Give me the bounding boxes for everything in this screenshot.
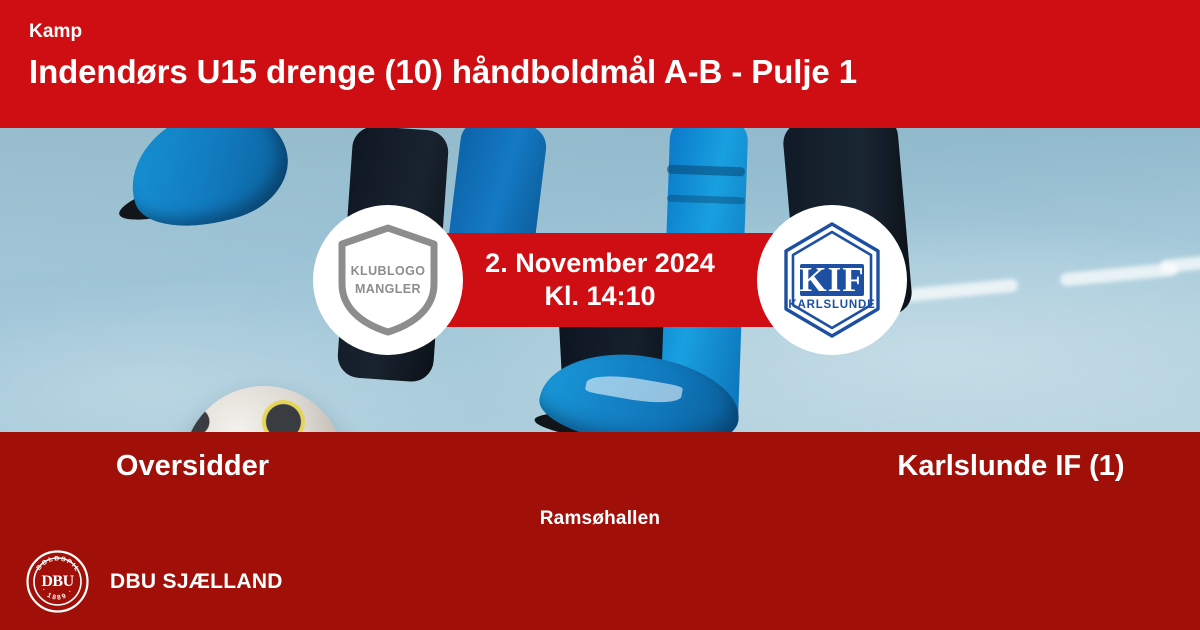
- svg-text:KIF: KIF: [799, 260, 864, 299]
- away-club-logo[interactable]: KIF KARLSLUNDE: [757, 205, 907, 355]
- svg-text:DBU: DBU: [41, 573, 74, 590]
- placeholder-shield-icon: KLUBLOGO MANGLER: [336, 224, 440, 336]
- home-club-logo[interactable]: KLUBLOGO MANGLER: [313, 205, 463, 355]
- header-eyebrow: Kamp: [29, 22, 1200, 41]
- match-date: 2. November 2024: [485, 247, 715, 280]
- kif-club-crest-icon: KIF KARLSLUNDE: [770, 218, 894, 342]
- placeholder-shield-line1: KLUBLOGO: [351, 262, 426, 280]
- venue-name: Ramsøhallen: [0, 508, 1200, 530]
- futsal-ball: SELECT: [183, 386, 345, 432]
- ball-panel-outline: [183, 386, 345, 432]
- poster-footer-band: Oversidder Karlslunde IF (1) Ramsøhallen…: [0, 432, 1200, 630]
- match-poster: Kamp Indendørs U15 drenge (10) håndboldm…: [0, 0, 1200, 630]
- poster-header: Kamp Indendørs U15 drenge (10) håndboldm…: [0, 0, 1200, 128]
- dbu-emblem-icon: DANSK · BOLDSPIL · UNION · 1889 · DBU: [26, 550, 89, 613]
- team-names-row: Oversidder Karlslunde IF (1): [0, 450, 1200, 483]
- svg-text:KARLSLUNDE: KARLSLUNDE: [788, 299, 875, 311]
- organisation-name: DBU SJÆLLAND: [110, 570, 283, 594]
- footer: DANSK · BOLDSPIL · UNION · 1889 · DBU DB…: [26, 550, 283, 613]
- placeholder-shield-line2: MANGLER: [351, 280, 426, 298]
- page-title: Indendørs U15 drenge (10) håndboldmål A-…: [29, 54, 1200, 90]
- match-time: Kl. 14:10: [544, 280, 655, 313]
- away-team-name: Karlslunde IF (1): [600, 450, 1200, 483]
- placeholder-shield-text: KLUBLOGO MANGLER: [351, 262, 426, 298]
- home-team-name: Oversidder: [0, 450, 600, 483]
